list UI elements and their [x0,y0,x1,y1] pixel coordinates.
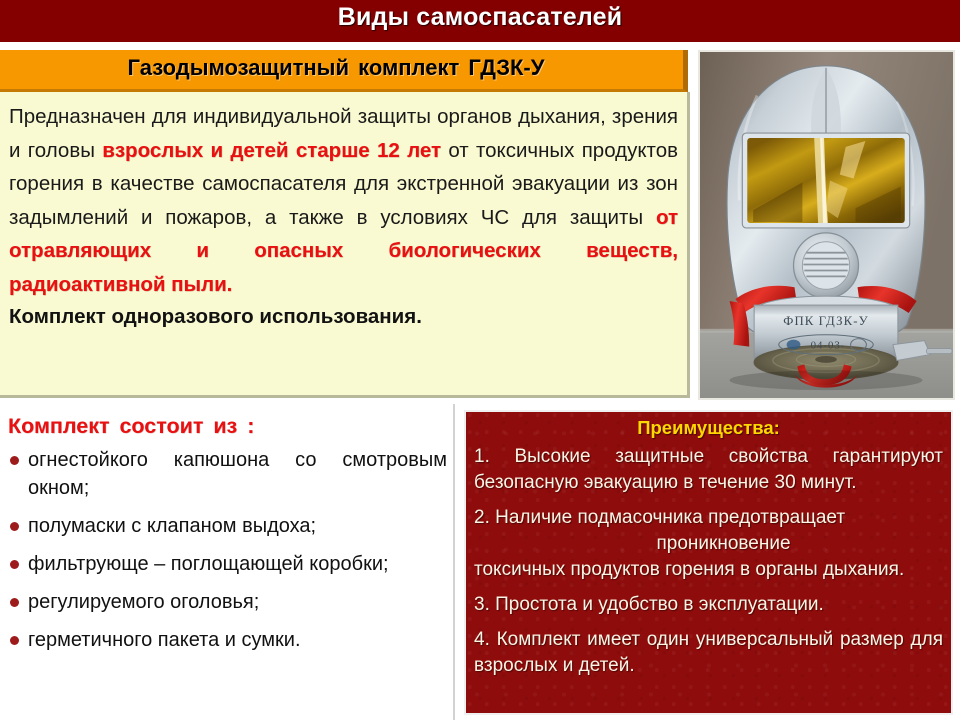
description-highlight-age: взрослых и детей старше 12 лет [102,139,441,162]
components-panel: Комплект состоит из : огнестойкого капюш… [0,404,455,720]
hood-illustration: ФПК ГДЗК-У 04-03- [700,52,953,398]
advantages-panel: Преимущества: 1. Высокие защитные свойст… [464,410,953,715]
slide-title-bar: Виды самоспасателей [0,0,960,42]
description-paragraph: Предназначен для индивидуальной защиты о… [9,100,678,301]
bullet-dot-icon [10,456,19,465]
component-label: огнестойкого капюшона со смотровым окном… [28,449,447,499]
advantages-heading: Преимущества: [474,417,943,439]
list-item: фильтрующе – поглощающей коробки; [8,550,447,578]
page-title: Виды самоспасателей [0,3,960,32]
advantage-item-2-line-3: токсичных продуктов горения в органы дых… [474,559,904,580]
list-item: огнестойкого капюшона со смотровым окном… [8,446,447,502]
list-item: полумаски с клапаном выдоха; [8,512,447,540]
component-label: герметичного пакета и сумки. [28,629,301,651]
component-label: регулируемого оголовья; [28,591,259,613]
advantage-item-3: 3. Простота и удобство в эксплуатации. [474,592,943,618]
product-name-banner: Газодымозащитный комплект ГДЗК-У [0,50,688,92]
advantage-item-2-line-2: проникновение [474,531,943,557]
bullet-dot-icon [10,522,19,531]
bullet-dot-icon [10,598,19,607]
description-highlight-hazards: отравляющих и опасных биологических веще… [9,239,678,296]
advantage-item-1: 1. Высокие защитные свойства гарантируют… [474,444,943,496]
description-closing-note: Комплект одноразового использования. [9,301,678,332]
description-panel: Предназначен для индивидуальной защиты о… [0,92,690,398]
bullet-dot-icon [10,636,19,645]
description-highlight-lead: от [656,206,678,229]
component-label: фильтрующе – поглощающей коробки; [28,553,389,575]
advantage-item-2: 2. Наличие подмасочника предотвращает пр… [474,505,943,583]
gdzk-u-hood-photo: ФПК ГДЗК-У 04-03- [698,50,955,400]
advantage-item-2-line-1: 2. Наличие подмасочника предотвращает [474,507,845,528]
canister-label: ФПК ГДЗК-У [783,314,868,328]
advantage-item-4: 4. Комплект имеет один универсальный раз… [474,627,943,679]
bullet-dot-icon [10,560,19,569]
canister-date-code: 04-03- [811,340,846,352]
list-item: регулируемого оголовья; [8,588,447,616]
component-label: полумаски с клапаном выдоха; [28,515,316,537]
product-name-label: Газодымозащитный комплект ГДЗК-У [0,55,672,81]
list-item: герметичного пакета и сумки. [8,626,447,654]
components-list: огнестойкого капюшона со смотровым окном… [8,446,447,654]
components-heading: Комплект состоит из : [8,414,447,439]
